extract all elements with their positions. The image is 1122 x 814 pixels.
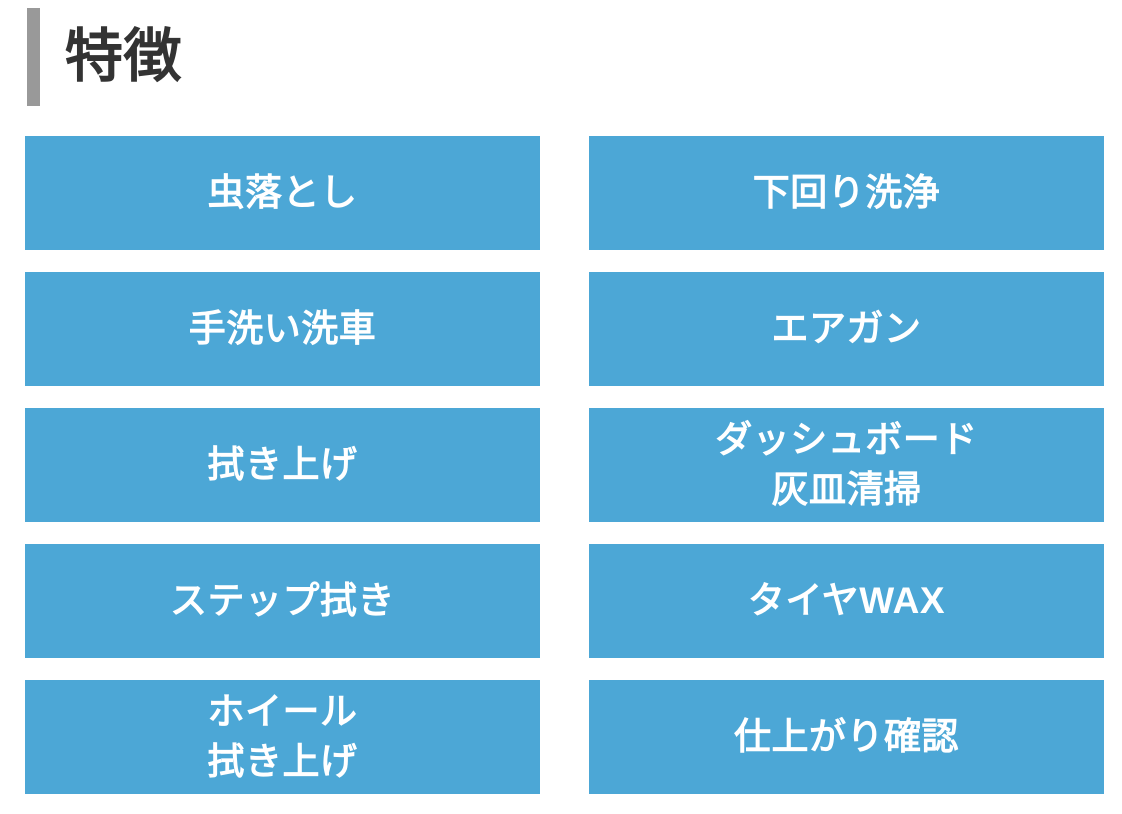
feature-card[interactable]: ダッシュボード 灰皿清掃 — [589, 408, 1104, 522]
feature-card-label: ダッシュボード 灰皿清掃 — [715, 415, 978, 515]
feature-section-page: 特徴 虫落とし 下回り洗浄 手洗い洗車 エアガン 拭き上げ ダッシュボード 灰皿… — [0, 0, 1122, 814]
feature-card-label: ステップ拭き — [170, 576, 395, 626]
feature-card[interactable]: エアガン — [589, 272, 1104, 386]
feature-card-label: 下回り洗浄 — [753, 168, 941, 218]
feature-card[interactable]: 拭き上げ — [25, 408, 540, 522]
feature-card-grid: 虫落とし 下回り洗浄 手洗い洗車 エアガン 拭き上げ ダッシュボード 灰皿清掃 … — [25, 136, 1104, 794]
feature-card[interactable]: ホイール 拭き上げ — [25, 680, 540, 794]
feature-card[interactable]: 仕上がり確認 — [589, 680, 1104, 794]
feature-card-label: 仕上がり確認 — [734, 712, 959, 762]
feature-card[interactable]: 下回り洗浄 — [589, 136, 1104, 250]
feature-card[interactable]: タイヤWAX — [589, 544, 1104, 658]
page-title: 特徴 — [27, 8, 182, 106]
feature-card[interactable]: 手洗い洗車 — [25, 272, 540, 386]
feature-card-label: タイヤWAX — [748, 576, 945, 626]
feature-card[interactable]: 虫落とし — [25, 136, 540, 250]
feature-card-label: ホイール 拭き上げ — [208, 687, 358, 787]
feature-card-label: 虫落とし — [208, 168, 358, 218]
feature-card-label: エアガン — [772, 304, 922, 354]
heading-accent-bar-icon — [27, 8, 40, 106]
feature-card-label: 拭き上げ — [208, 440, 358, 490]
feature-card-label: 手洗い洗車 — [189, 304, 377, 354]
feature-card[interactable]: ステップ拭き — [25, 544, 540, 658]
page-title-label: 特徴 — [65, 28, 182, 86]
